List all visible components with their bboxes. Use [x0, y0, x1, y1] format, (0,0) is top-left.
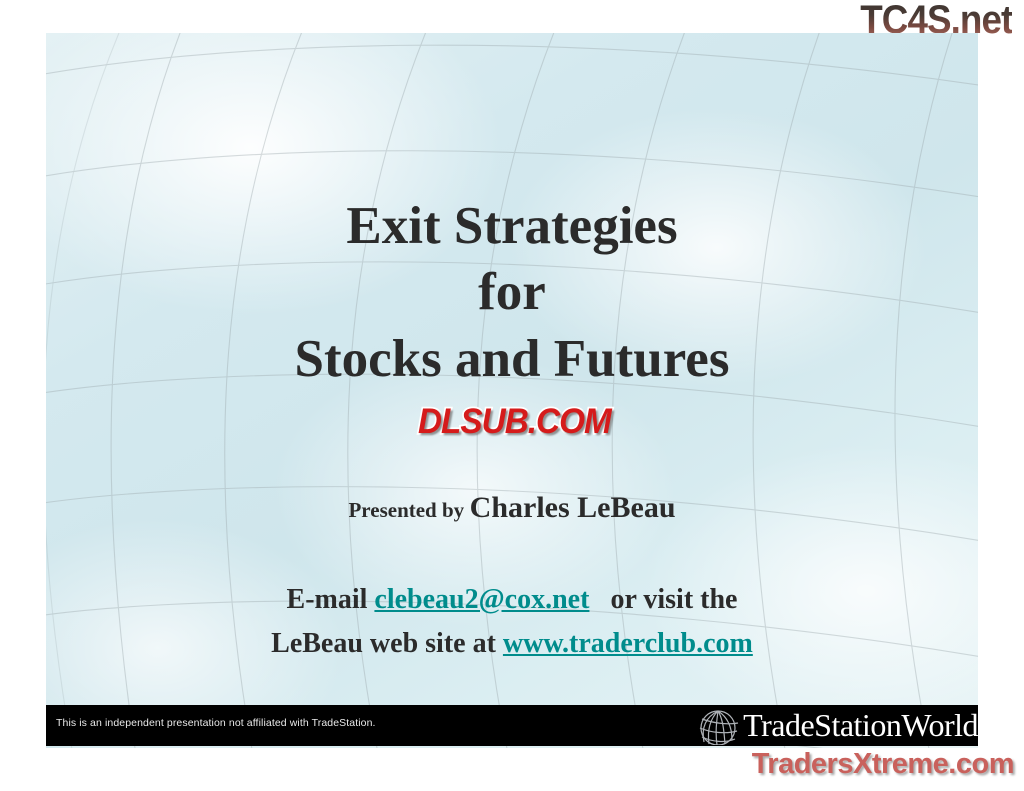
dlsub-watermark: DLSUB.COM — [418, 402, 611, 442]
slide-footer-bar: This is an independent presentation not … — [46, 705, 978, 746]
presentation-slide: Exit Strategies for Stocks and Futures D… — [46, 33, 978, 748]
tradestationworld-logo: TradeStationWorld — [697, 706, 978, 746]
tradestationworld-text: TradeStationWorld — [743, 709, 978, 741]
contact-email-line: E-mail clebeau2@cox.net or visit the — [46, 578, 978, 622]
title-line-1: Exit Strategies — [46, 193, 978, 259]
slide-title: Exit Strategies for Stocks and Futures — [46, 193, 978, 392]
email-link[interactable]: clebeau2@cox.net — [374, 584, 589, 615]
email-prefix-label: E-mail — [287, 584, 368, 615]
presenter-prefix: Presented by — [348, 498, 464, 522]
contact-block: E-mail clebeau2@cox.net or visit the LeB… — [46, 578, 978, 666]
globe-icon — [697, 707, 741, 745]
contact-website-line: LeBeau web site at www.traderclub.com — [46, 622, 978, 666]
disclaimer-text: This is an independent presentation not … — [56, 717, 376, 729]
top-banner: TC4S.net — [0, 0, 1024, 33]
title-line-3: Stocks and Futures — [46, 326, 978, 392]
email-suffix-label: or visit the — [610, 584, 737, 615]
tsw-brand-label: TradeStationWorld — [743, 707, 978, 743]
title-line-2: for — [46, 259, 978, 325]
tradersxtreme-watermark: TradersXtreme.com — [752, 748, 1014, 781]
website-prefix-label: LeBeau web site at — [271, 628, 496, 659]
presenter-line: Presented by Charles LeBeau — [46, 491, 978, 525]
website-link[interactable]: www.traderclub.com — [503, 628, 753, 659]
presenter-name: Charles LeBeau — [470, 491, 676, 524]
